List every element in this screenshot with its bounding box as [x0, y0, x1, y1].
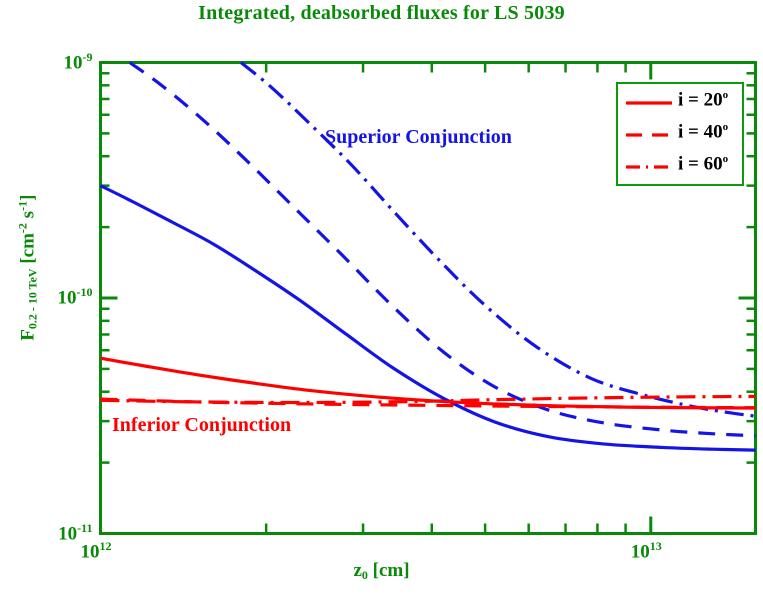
legend-line-sample-2 — [625, 151, 673, 181]
annotation-inferior-conjunction: Inferior Conjunction — [112, 414, 291, 437]
legend-label-2: i = 60o — [678, 153, 728, 175]
x-tick-label-0: 1012 — [81, 539, 112, 563]
y-axis-label-s: s — [18, 211, 39, 223]
annotation-superior-conjunction: Superior Conjunction — [325, 126, 512, 149]
y-tick-label-0: 10-9 — [64, 50, 93, 74]
y-axis-label-sub: 0.2 - 10 TeV — [26, 268, 40, 329]
legend-item-2[interactable]: i = 60o — [618, 151, 746, 181]
legend-item-0[interactable]: i = 20o — [618, 87, 746, 117]
y-tick-label-1: 10-10 — [58, 285, 93, 309]
y-axis-label-unit-close: ] — [18, 195, 39, 201]
legend-box: i = 20oi = 40oi = 60o — [616, 82, 744, 186]
figure-root: Integrated, deabsorbed fluxes for LS 503… — [0, 0, 763, 597]
y-axis-label-F: F — [18, 329, 39, 341]
x-tick-label-1: 1013 — [631, 539, 662, 563]
legend-item-1[interactable]: i = 40o — [618, 119, 746, 149]
y-axis-label-exp1: -2 — [15, 223, 29, 233]
y-axis-label-unit-open: [cm — [18, 233, 39, 268]
legend-line-sample-1 — [625, 119, 673, 149]
legend-line-sample-0 — [625, 87, 673, 117]
x-axis-label-unit: [cm] — [368, 560, 410, 581]
y-axis-label: F0.2 - 10 TeV [cm-2 s-1] — [15, 148, 40, 388]
legend-label-0: i = 20o — [678, 89, 728, 111]
x-axis-label: z0 [cm] — [0, 560, 763, 583]
y-axis-label-exp2: -1 — [15, 201, 29, 211]
legend-label-1: i = 40o — [678, 121, 728, 143]
x-axis-label-z: z — [353, 560, 361, 581]
curve-0 — [101, 186, 756, 450]
